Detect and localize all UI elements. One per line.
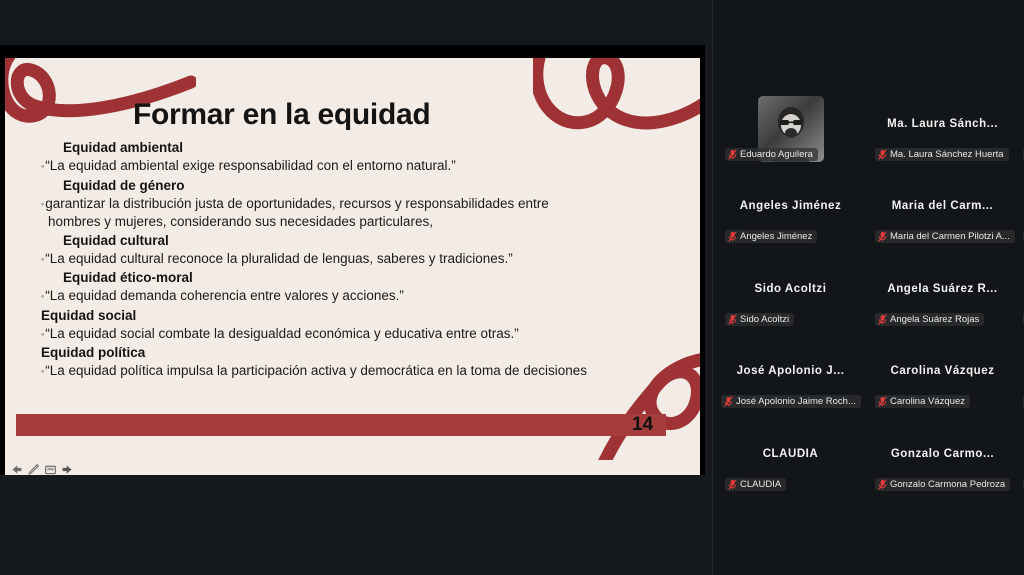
participant-name: José Apolonio Jaime Roch... [736, 396, 856, 407]
participant-display-name: Maria del Carm... [865, 200, 1020, 212]
participant-name: Eduardo Aguilera [740, 149, 813, 160]
participant-tile[interactable]: Maria del Carm... Maria del Carmen Pilot… [865, 178, 1020, 248]
participant-name: Maria del Carmen Pilotzi A... [890, 231, 1010, 242]
participant-display-name: Sido Acoltzi [713, 283, 868, 295]
section-bullet: ◦“La equidad cultural reconoce la plural… [33, 250, 693, 269]
participant-display-name: Gonzalo Carmo... [865, 448, 1020, 460]
slide-body: Equidad ambiental ◦“La equidad ambiental… [33, 138, 693, 381]
participant-tile[interactable]: CLAUDIA CLAUDIA [713, 426, 868, 496]
decorative-swirl-top-right [533, 58, 700, 140]
section-bullet-continuation: hombres y mujeres, considerando sus nece… [41, 213, 689, 231]
section-bullet: ◦“La equidad social combate la desiguald… [33, 325, 693, 344]
slide-page-number: 14 [632, 414, 672, 436]
participant-name-badge: Maria del Carmen Pilotzi A... [875, 230, 1015, 243]
bullet-marker-icon: ◦ [41, 199, 44, 209]
participant-display-name: José Apolonio J... [713, 365, 868, 377]
participant-name-badge: CLAUDIA [725, 478, 786, 491]
participant-name-badge: Angela Suárez Rojas [875, 313, 984, 326]
shared-screen-region[interactable]: Formar en la equidad Equidad ambiental ◦… [0, 0, 712, 575]
microphone-muted-icon [728, 149, 737, 160]
section-heading: Equidad de género [33, 177, 693, 195]
microphone-muted-icon [724, 396, 733, 407]
bullet-marker-icon: ◦ [41, 254, 44, 264]
section-bullet: ◦“La equidad demanda coherencia entre va… [33, 287, 693, 306]
pen-annotate-icon[interactable] [27, 463, 40, 476]
microphone-muted-icon [728, 479, 737, 490]
participant-name: Ma. Laura Sánchez Huerta [890, 149, 1004, 160]
slide-view-icon[interactable] [44, 463, 57, 476]
participant-tile[interactable]: Angeles Jiménez Angeles Jiménez [713, 178, 868, 248]
participant-display-name: Carolina Vázquez [865, 365, 1020, 377]
presentation-toolbar[interactable] [5, 460, 700, 475]
participant-tile[interactable]: Sido Acoltzi Sido Acoltzi [713, 261, 868, 331]
section-heading: Equidad social [33, 307, 693, 325]
next-slide-icon[interactable] [61, 463, 74, 476]
section-heading: Equidad política [33, 344, 693, 362]
participant-tile[interactable]: José Apolonio J... José Apolonio Jaime R… [713, 343, 868, 413]
participant-name: Sido Acoltzi [740, 314, 789, 325]
participant-name-badge: José Apolonio Jaime Roch... [721, 395, 861, 408]
microphone-muted-icon [878, 396, 887, 407]
bullet-marker-icon: ◦ [41, 161, 44, 171]
participant-display-name: Angeles Jiménez [713, 200, 868, 212]
participant-name-badge: Angeles Jiménez [725, 230, 817, 243]
section-bullet: ◦“La equidad ambiental exige responsabil… [33, 157, 693, 176]
participant-name-badge: Sido Acoltzi [725, 313, 794, 326]
participant-name-badge: Gonzalo Carmona Pedroza [875, 478, 1010, 491]
microphone-muted-icon [728, 231, 737, 242]
bullet-marker-icon: ◦ [41, 291, 44, 301]
section-heading: Equidad ambiental [33, 139, 693, 157]
microphone-muted-icon [878, 479, 887, 490]
participant-tile-partial[interactable] [1017, 426, 1024, 496]
bullet-marker-icon: ◦ [41, 329, 44, 339]
microphone-muted-icon [878, 231, 887, 242]
participant-name: CLAUDIA [740, 479, 781, 490]
section-bullet: ◦“La equidad política impulsa la partici… [33, 362, 693, 381]
participant-name: Angeles Jiménez [740, 231, 812, 242]
participant-name: Angela Suárez Rojas [890, 314, 979, 325]
participant-tile[interactable]: Gonzalo Carmo... Gonzalo Carmona Pedroza [865, 426, 1020, 496]
participant-gallery: Eduardo Aguilera Ma. Laura Sánch... Ma. … [713, 0, 1024, 575]
participant-tile-partial[interactable] [1017, 178, 1024, 248]
presentation-slide[interactable]: Formar en la equidad Equidad ambiental ◦… [5, 58, 700, 460]
participant-tile[interactable]: Angela Suárez R... Angela Suárez Rojas [865, 261, 1020, 331]
participant-display-name: Ma. Laura Sánch... [865, 118, 1020, 130]
microphone-muted-icon [878, 314, 887, 325]
section-heading: Equidad ético-moral [33, 269, 693, 287]
participant-tile[interactable]: Ma. Laura Sánch... Ma. Laura Sánchez Hue… [865, 96, 1020, 166]
shared-screen-letterbox: Formar en la equidad Equidad ambiental ◦… [0, 45, 705, 475]
slide-title: Formar en la equidad [133, 98, 430, 132]
participant-name: Carolina Vázquez [890, 396, 965, 407]
participant-tile-partial[interactable] [1017, 343, 1024, 413]
bullet-marker-icon: ◦ [41, 366, 44, 376]
participant-name-badge: Ma. Laura Sánchez Huerta [875, 148, 1009, 161]
participant-display-name: CLAUDIA [713, 448, 868, 460]
participant-tile-partial[interactable] [1017, 96, 1024, 166]
microphone-muted-icon [878, 149, 887, 160]
participant-display-name: Angela Suárez R... [865, 283, 1020, 295]
participant-tile-partial[interactable] [1017, 261, 1024, 331]
participant-name-badge: Eduardo Aguilera [725, 148, 818, 161]
slide-footer-bar [16, 414, 666, 436]
participant-tile[interactable]: Carolina Vázquez Carolina Vázquez [865, 343, 1020, 413]
microphone-muted-icon [728, 314, 737, 325]
section-heading: Equidad cultural [33, 232, 693, 250]
participant-name-badge: Carolina Vázquez [875, 395, 970, 408]
participant-name: Gonzalo Carmona Pedroza [890, 479, 1005, 490]
section-bullet: ◦garantizar la distribución justa de opo… [33, 195, 693, 231]
previous-slide-icon[interactable] [10, 463, 23, 476]
participant-tile[interactable]: Eduardo Aguilera [713, 96, 868, 166]
